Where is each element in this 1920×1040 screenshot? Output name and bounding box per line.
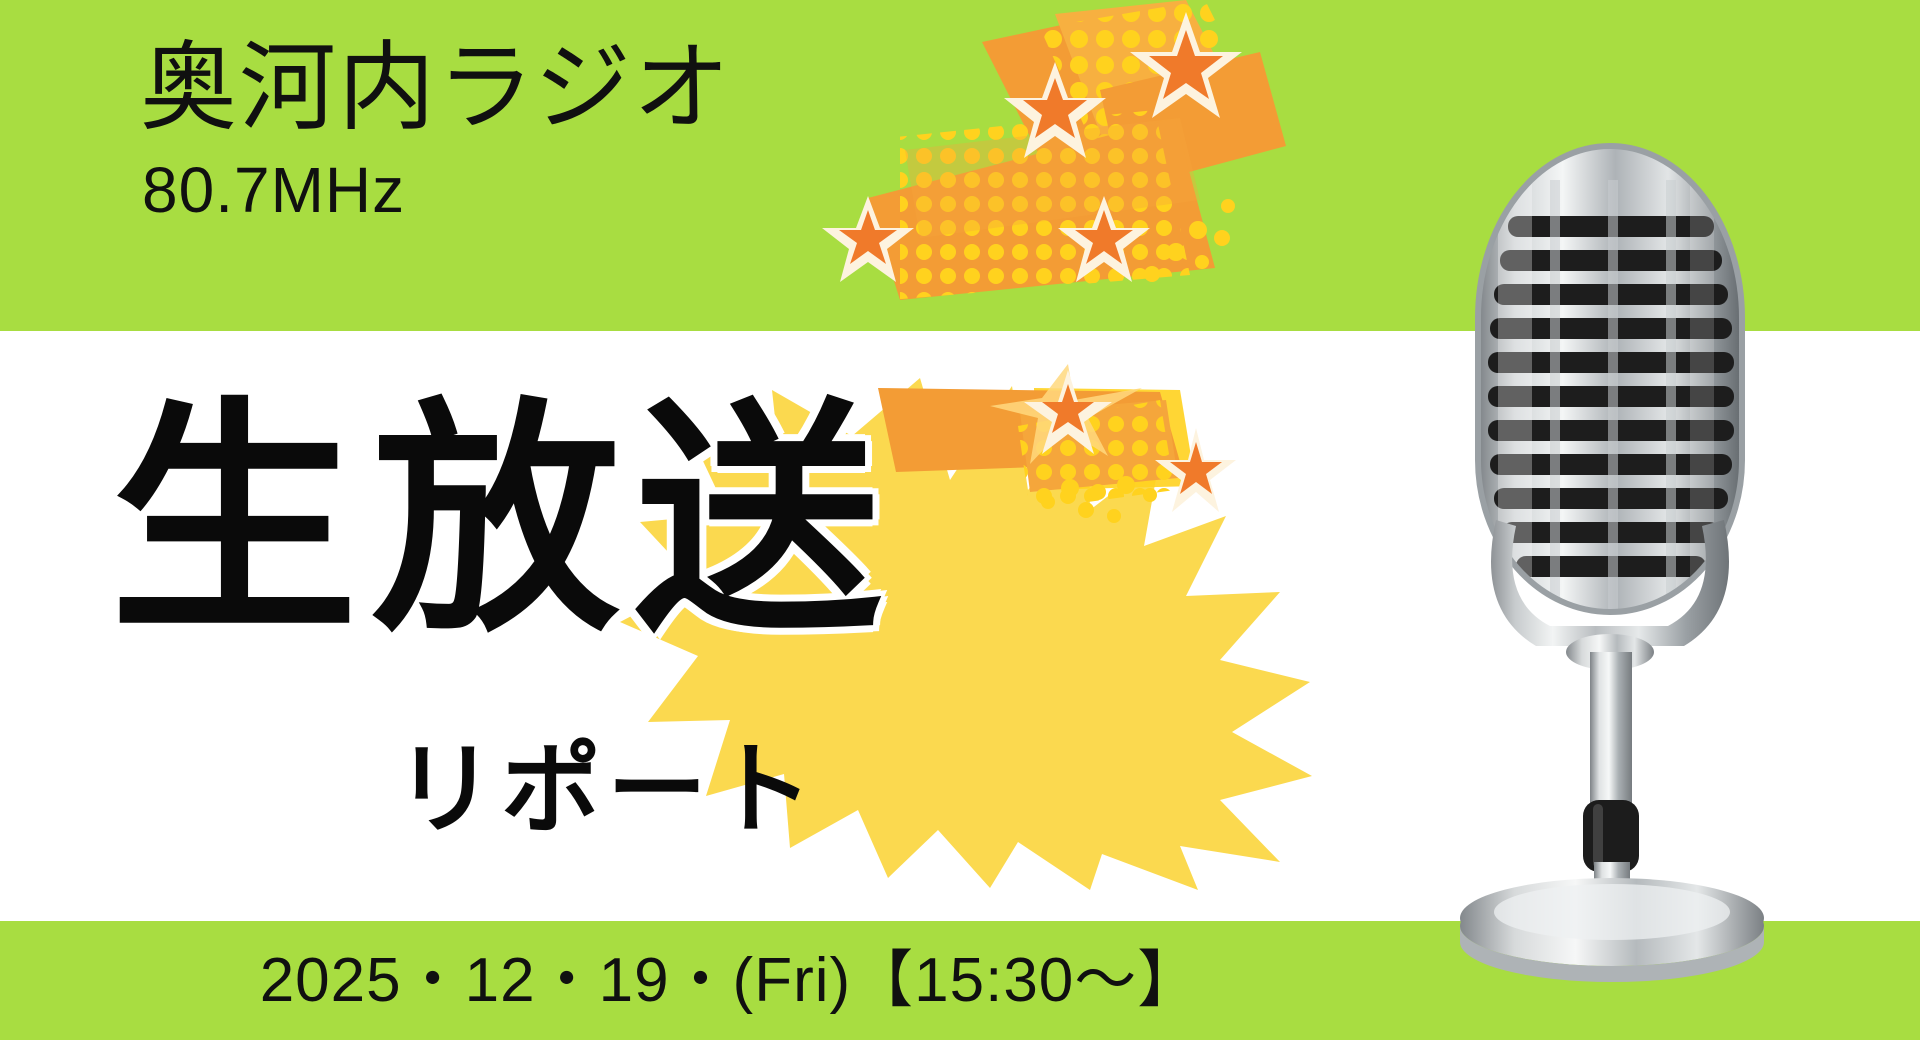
station-name: 奥河内ラジオ <box>140 36 732 141</box>
star-icon-ribbon-right <box>1155 428 1236 512</box>
station-frequency: 80.7MHz <box>142 158 405 222</box>
main-headline: 生放送 <box>110 400 896 643</box>
radio-promo-banner: 奥河内ラジオ 80.7MHz 生放送 リポート 2025・12・19・(Fri)… <box>0 0 1920 1040</box>
star-icon-ribbon-left <box>990 364 1142 464</box>
headline-subtitle: リポート <box>395 740 819 840</box>
broadcast-date-time: 2025・12・19・(Fri)【15:30〜】 <box>0 950 1460 1012</box>
